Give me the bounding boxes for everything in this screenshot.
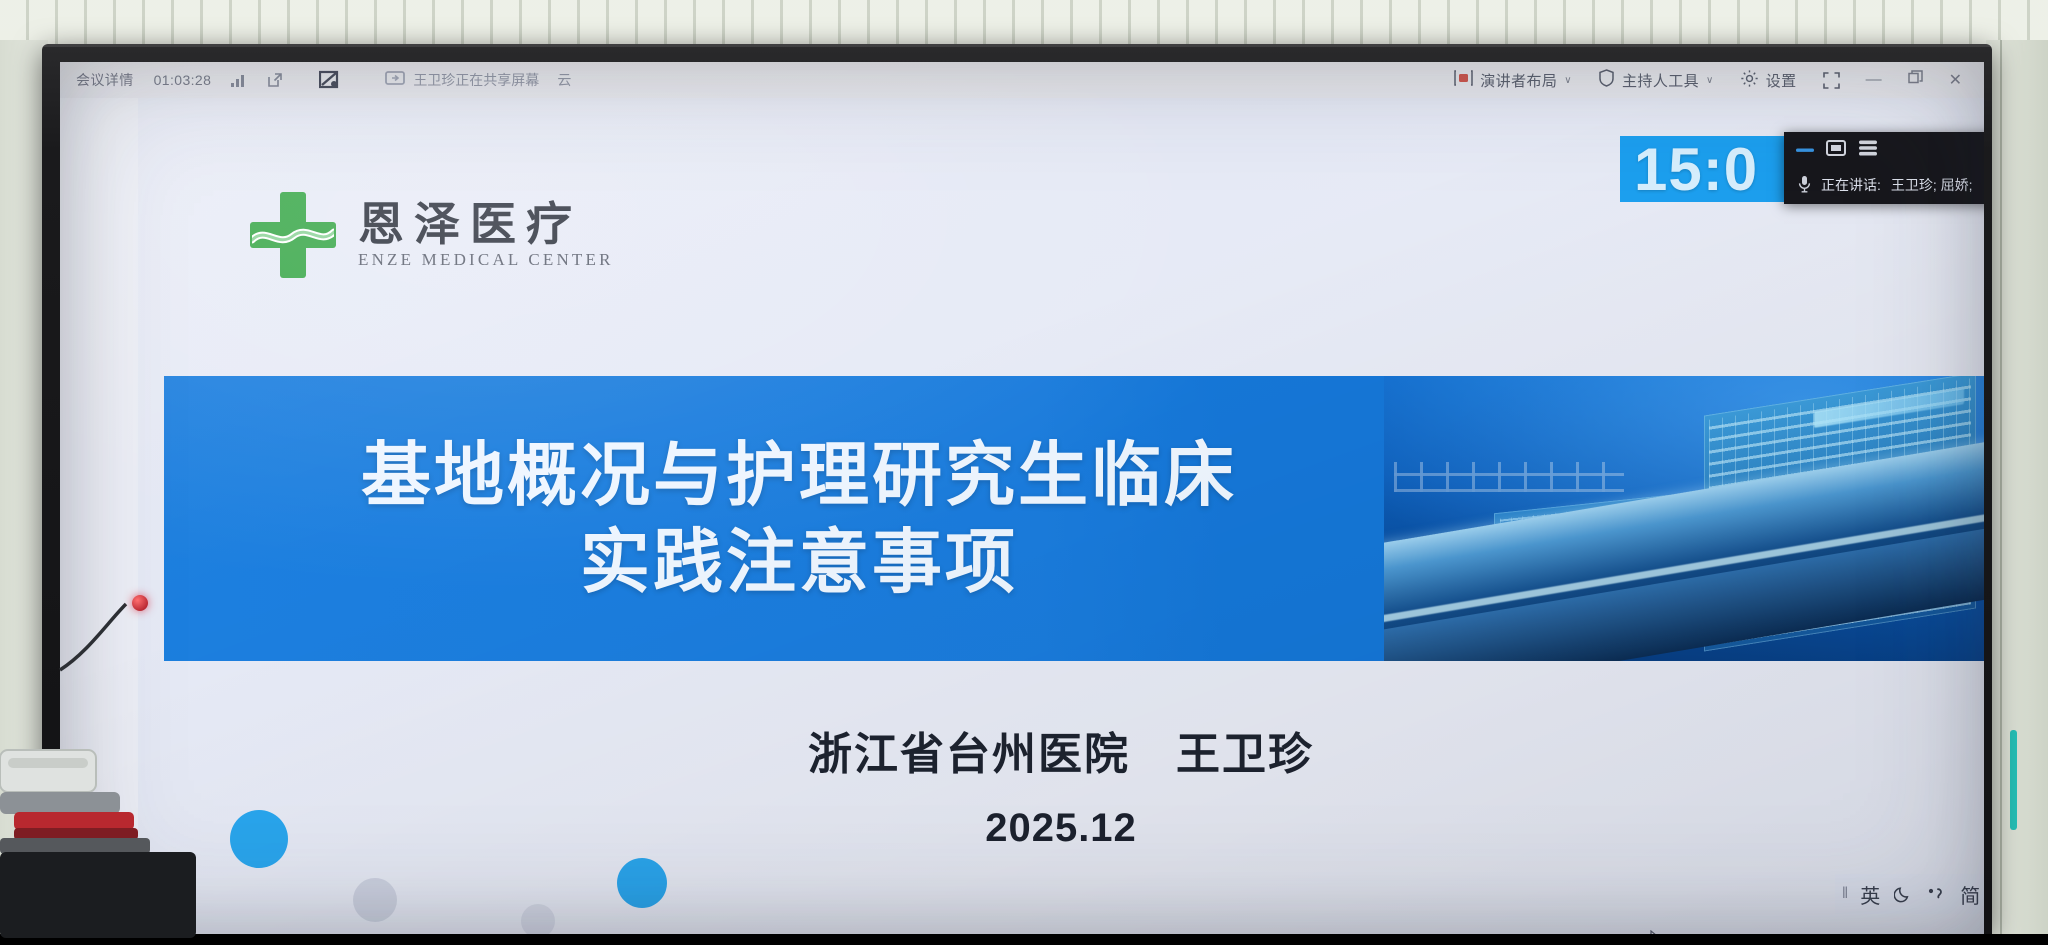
moon-icon[interactable]	[1894, 885, 1912, 903]
presenter-block: 浙江省台州医院 王卫珍 2025.12	[138, 718, 1984, 851]
close-button[interactable]: ✕	[1949, 70, 1962, 90]
desk-microphone-arm	[38, 600, 144, 710]
shield-icon	[1598, 69, 1615, 91]
teal-accent-strip	[2010, 730, 2017, 830]
minimize-button[interactable]: —	[1866, 71, 1882, 89]
signal-bars-icon[interactable]	[231, 74, 247, 87]
wall-right	[1986, 40, 2048, 934]
decor-circle-4	[617, 858, 667, 908]
screen-share-icon	[385, 71, 405, 89]
chevron-down-icon: ∨	[1564, 75, 1572, 86]
fullscreen-button[interactable]	[1823, 72, 1840, 89]
display-screen: 会议详情 01:03:28 王卫珍正在共享屏幕 云	[60, 62, 1984, 934]
wall-seam	[2000, 40, 2002, 934]
punctuation-icon[interactable]	[1926, 885, 1946, 903]
decor-circle-2	[353, 878, 397, 922]
ime-toolbar[interactable]: ‖ 英 简	[1835, 874, 1984, 914]
restore-window-button[interactable]	[1908, 70, 1923, 90]
hospital-building-photo	[1384, 376, 1984, 661]
minimize-icon[interactable]	[1796, 141, 1814, 159]
elapsed-time-label: 01:03:28	[154, 72, 212, 88]
cloud-record-label: 云	[557, 70, 571, 90]
meeting-elapsed-time: 01:03:28	[154, 72, 212, 88]
ime-language-toggle[interactable]: 英	[1860, 880, 1880, 909]
screen-share-notice: 王卫珍正在共享屏幕 云	[385, 70, 571, 90]
hospital-logo: 恩泽医疗 ENZE MEDICAL CENTER	[250, 192, 614, 278]
settings-label: 设置	[1766, 70, 1797, 91]
slide-title: 基地概况与护理研究生临床 实践注意事项	[224, 376, 1374, 661]
meeting-details-button[interactable]: 会议详情	[76, 70, 134, 90]
drag-grip-icon[interactable]: ‖	[1842, 885, 1847, 903]
title-band: 基地概况与护理研究生临床 实践注意事项	[164, 376, 1984, 661]
gear-icon	[1740, 69, 1759, 92]
speaker-layout-button[interactable]: 演讲者布局 ∨	[1454, 70, 1572, 91]
screen-share-notice-label: 王卫珍正在共享屏幕	[413, 70, 539, 90]
countdown-timer-value: 15:0	[1634, 136, 1758, 202]
pop-out-window-icon[interactable]	[267, 72, 283, 88]
video-window-icon[interactable]	[1826, 140, 1846, 161]
active-speakers: 王卫珍; 屈娇;	[1891, 175, 1973, 195]
host-tools-button[interactable]: 主持人工具 ∨	[1598, 69, 1714, 91]
speaker-layout-icon	[1454, 70, 1473, 90]
decor-circle-3	[521, 904, 555, 934]
microphone-icon	[1798, 175, 1811, 196]
settings-button[interactable]: 设置	[1740, 69, 1797, 92]
annotation-pen-icon[interactable]	[319, 70, 341, 90]
ceiling-tiles	[0, 0, 2048, 46]
meeting-toolbar: 会议详情 01:03:28 王卫珍正在共享屏幕 云	[60, 62, 1984, 98]
meeting-details-label: 会议详情	[76, 70, 134, 90]
green-medical-cross-icon	[250, 192, 336, 278]
chevron-down-icon: ∨	[1706, 75, 1714, 86]
ime-script-toggle[interactable]: 简	[1960, 880, 1980, 909]
shared-slide: 恩泽医疗 ENZE MEDICAL CENTER 基地概况与护理研究生临床 实践…	[138, 98, 1984, 934]
desk-microphone	[0, 700, 230, 945]
slide-title-line2: 实践注意事项	[580, 519, 1018, 606]
organization-and-presenter: 浙江省台州医院 王卫珍	[808, 718, 1314, 782]
participant-list-icon[interactable]	[1858, 140, 1878, 161]
floating-meeting-panel[interactable]: 正在讲话: 王卫珍; 屈娇;	[1784, 132, 1984, 204]
logo-name-cn: 恩泽医疗	[358, 200, 614, 248]
host-tools-label: 主持人工具	[1622, 70, 1699, 91]
slide-date: 2025.12	[985, 806, 1137, 851]
speaker-layout-label: 演讲者布局	[1480, 70, 1557, 91]
speaking-label: 正在讲话:	[1821, 175, 1881, 195]
logo-name-en: ENZE MEDICAL CENTER	[358, 250, 614, 270]
decor-circle-1	[230, 810, 288, 868]
mouse-pointer-icon	[1650, 930, 1667, 934]
red-indicator-led	[132, 595, 148, 611]
slide-title-line1: 基地概况与护理研究生临床	[361, 432, 1237, 519]
